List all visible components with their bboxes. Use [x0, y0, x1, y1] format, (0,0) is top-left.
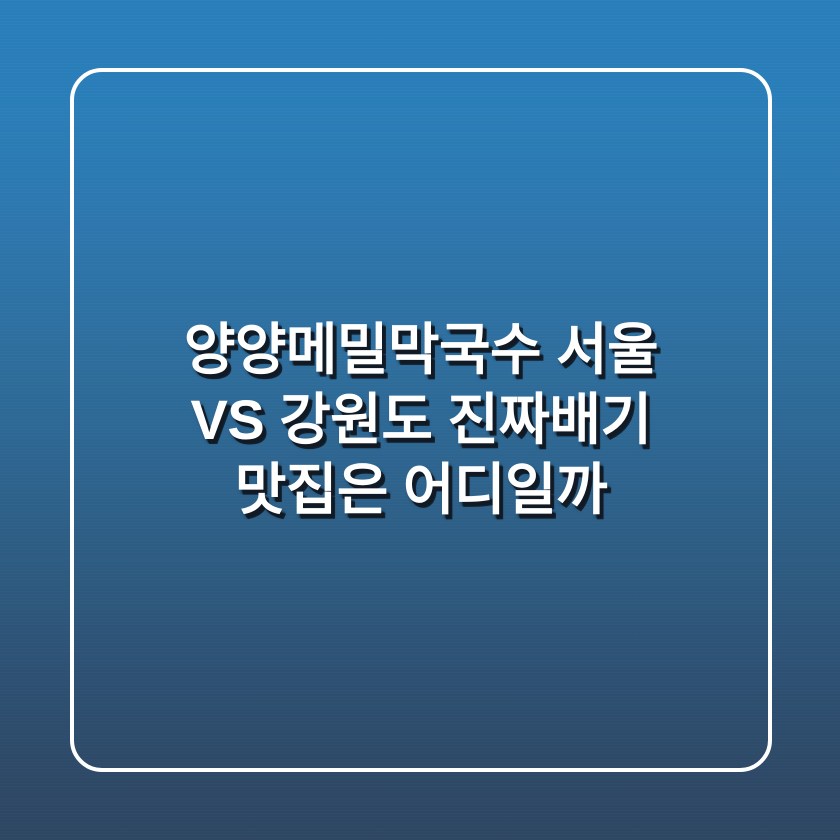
title-line-2: VS 강원도 진짜배기	[88, 385, 754, 455]
title-line-3: 맛집은 어디일까	[88, 455, 754, 525]
thumbnail-card: 양양메밀막국수 서울 VS 강원도 진짜배기 맛집은 어디일까	[0, 0, 840, 840]
title-block: 양양메밀막국수 서울 VS 강원도 진짜배기 맛집은 어디일까	[70, 68, 772, 772]
title-line-1: 양양메밀막국수 서울	[88, 315, 754, 385]
